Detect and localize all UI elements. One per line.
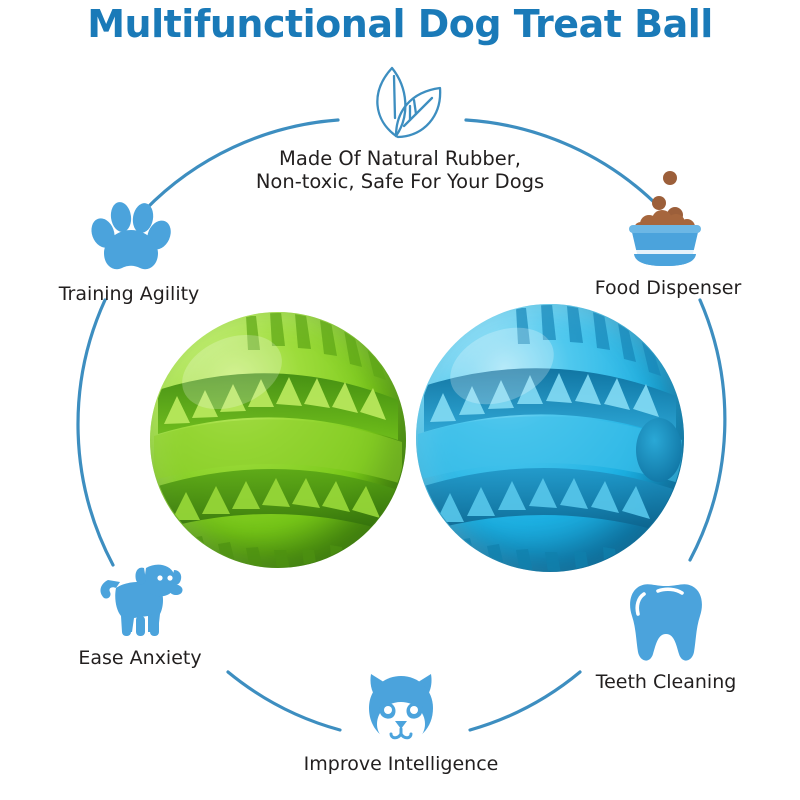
paw-print-icon xyxy=(18,200,240,281)
feature-label: Food Dispenser xyxy=(556,277,780,299)
page-title: Multifunctional Dog Treat Ball xyxy=(0,2,800,46)
ring-arc-right xyxy=(690,300,725,560)
feature-label: Ease Anxiety xyxy=(40,647,240,669)
feature-teeth-cleaning: Teeth Cleaning xyxy=(560,582,772,693)
feature-label: Training Agility xyxy=(18,283,240,305)
feature-ease-anxiety: Ease Anxiety xyxy=(40,558,240,669)
feature-label-line1: Made Of Natural Rubber, xyxy=(250,147,550,170)
feature-food-dispenser: Food Dispenser xyxy=(556,170,780,299)
feature-label-line2: Non-toxic, Safe For Your Dogs xyxy=(250,170,550,193)
treat-hole xyxy=(636,418,682,482)
product-image xyxy=(140,300,690,580)
blue-ball-texture xyxy=(416,304,684,572)
feature-natural-rubber: Made Of Natural Rubber, Non-toxic, Safe … xyxy=(250,62,550,193)
product-infographic: Multifunctional Dog Treat Ball xyxy=(0,0,800,800)
dog-silhouette-icon xyxy=(40,558,240,645)
dog-food-bowl-icon xyxy=(556,170,780,275)
green-ball-texture xyxy=(150,312,406,568)
dog-head-icon xyxy=(285,668,517,751)
blue-treat-ball xyxy=(416,304,684,572)
feature-training-agility: Training Agility xyxy=(18,200,240,305)
leaves-icon xyxy=(250,62,550,145)
feature-label: Teeth Cleaning xyxy=(560,671,772,693)
tooth-icon xyxy=(560,582,772,669)
feature-improve-intelligence: Improve Intelligence xyxy=(285,668,517,775)
green-treat-ball xyxy=(150,312,406,568)
ring-arc-left xyxy=(78,300,113,565)
feature-label: Improve Intelligence xyxy=(285,753,517,775)
